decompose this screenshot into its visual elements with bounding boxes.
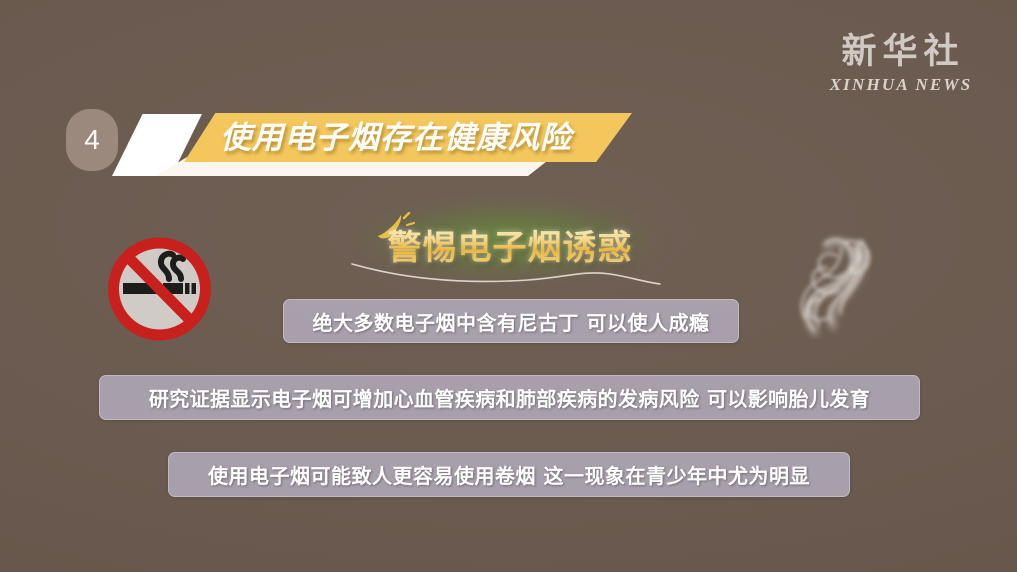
- section-number-label: 4: [84, 126, 100, 154]
- banner-title-text: 使用电子烟存在健康风险: [220, 116, 640, 160]
- swoosh-line-icon: [348, 258, 664, 288]
- title-banner: 使用电子烟存在健康风险: [112, 108, 632, 186]
- xinhua-logo: 新华社 XINHUA NEWS: [820, 32, 980, 94]
- section-number-badge: 4: [66, 109, 118, 171]
- fact-box-2: 研究证据显示电子烟可增加心血管疾病和肺部疾病的发病风险 可以影响胎儿发育: [99, 375, 920, 420]
- slide-canvas: 新华社 XINHUA NEWS 4 使用电子烟存在健康风险 警惕电子烟诱惑: [0, 0, 1017, 572]
- smoke-wisp-icon: [775, 222, 890, 340]
- fact-box-3: 使用电子烟可能致人更容易使用卷烟 这一现象在青少年中尤为明显: [168, 452, 850, 497]
- fact-box-1: 绝大多数电子烟中含有尼古丁 可以使人成瘾: [283, 299, 739, 343]
- no-smoking-icon: [103, 237, 216, 341]
- xinhua-logo-cn: 新华社: [835, 32, 964, 72]
- xinhua-logo-en: XINHUA NEWS: [828, 75, 973, 95]
